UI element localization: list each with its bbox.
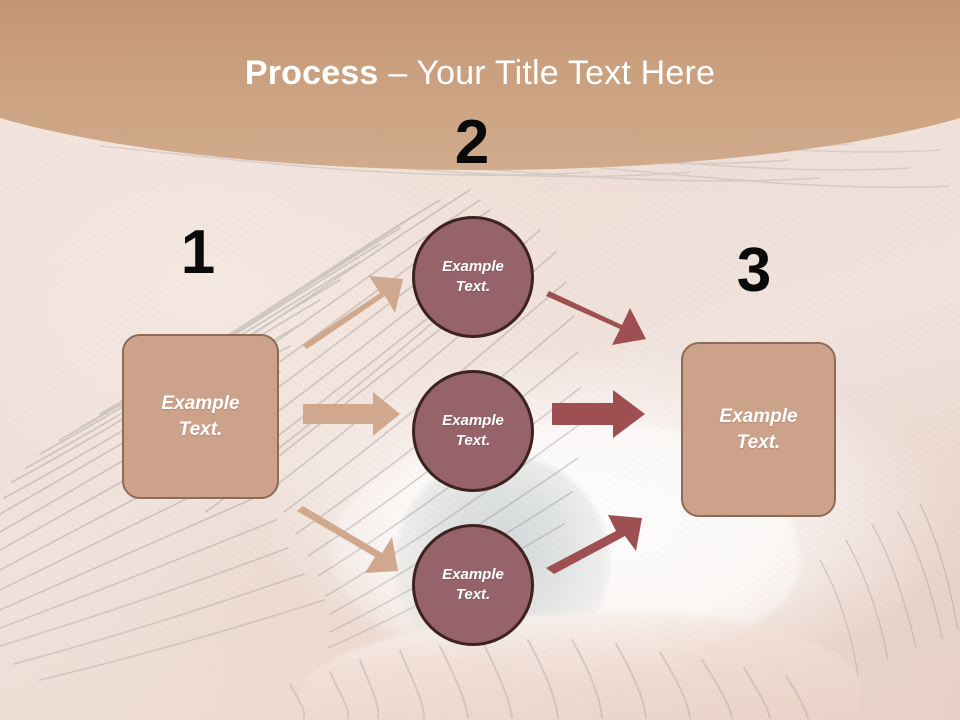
- step-number-2: 2: [432, 112, 512, 174]
- process-circle-middle-line2: Text.: [456, 432, 490, 449]
- end-box-label-line2: Text.: [737, 432, 781, 453]
- arrow-out-bot-shape: [546, 515, 642, 574]
- process-circle-top-line1: Example: [442, 258, 504, 275]
- slide-canvas: Process – Your Title Text Here: [0, 0, 960, 720]
- process-circle-bottom[interactable]: Example Text.: [412, 524, 534, 646]
- process-circle-bottom-line2: Text.: [456, 586, 490, 603]
- process-circle-bottom-label: Example Text.: [442, 565, 504, 605]
- process-circle-middle[interactable]: Example Text.: [412, 370, 534, 492]
- start-box-label-line1: Example: [161, 393, 239, 414]
- process-circle-middle-label: Example Text.: [442, 411, 504, 451]
- end-box-label: Example Text.: [719, 404, 797, 455]
- arrow-out-top-shape: [546, 291, 646, 345]
- arrow-in-top-shape: [302, 276, 403, 349]
- process-diagram: 1 2 3 Example Text. Example Text. Exampl…: [0, 0, 960, 720]
- start-box[interactable]: Example Text.: [122, 334, 279, 499]
- arrow-in-mid-shape: [303, 392, 400, 436]
- arrow-in-bot-shape: [297, 506, 398, 573]
- step-number-1: 1: [158, 222, 238, 284]
- process-circle-middle-line1: Example: [442, 412, 504, 429]
- arrow-out-mid-shape: [552, 390, 645, 438]
- step-number-3: 3: [714, 240, 794, 302]
- start-box-label-line2: Text.: [179, 419, 223, 440]
- end-box[interactable]: Example Text.: [681, 342, 836, 517]
- process-circle-top[interactable]: Example Text.: [412, 216, 534, 338]
- process-circle-top-label: Example Text.: [442, 257, 504, 297]
- end-box-label-line1: Example: [719, 406, 797, 427]
- process-circle-bottom-line1: Example: [442, 566, 504, 583]
- start-box-label: Example Text.: [161, 391, 239, 442]
- process-circle-top-line2: Text.: [456, 278, 490, 295]
